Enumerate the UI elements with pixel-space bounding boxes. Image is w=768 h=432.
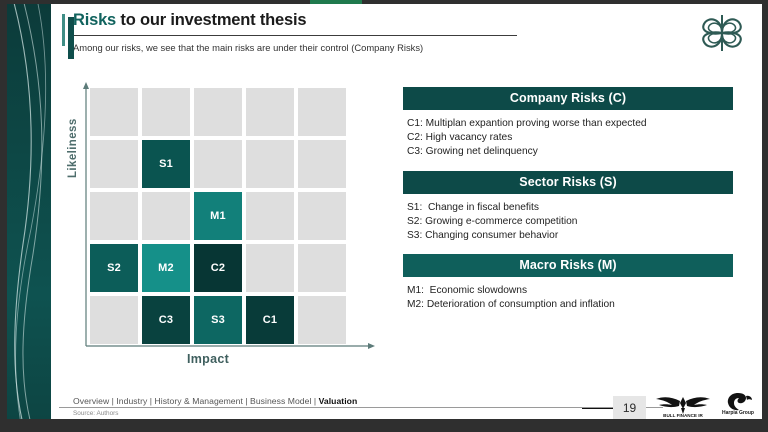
risk-item: S2: Growing e-commerce competition	[407, 215, 731, 229]
panel-macro-risks: Macro Risks (M) M1: Economic slowdowns M…	[403, 254, 733, 321]
panel-macro-risks-header: Macro Risks (M)	[403, 254, 733, 277]
panel-sector-risks: Sector Risks (S) S1: Change in fiscal be…	[403, 171, 733, 253]
risk-cell-empty	[194, 88, 242, 136]
risk-cell-m2: M2	[142, 244, 190, 292]
risk-cell-s3: S3	[194, 296, 242, 344]
risk-cell-s1: S1	[142, 140, 190, 188]
risk-cell-empty	[246, 88, 294, 136]
panel-sector-risks-header: Sector Risks (S)	[403, 171, 733, 194]
title-divider	[73, 35, 517, 36]
risk-cell-empty	[298, 192, 346, 240]
title-accent-thin-bar	[62, 14, 65, 46]
risk-cell-s2: S2	[90, 244, 138, 292]
top-progress-fill	[310, 0, 362, 4]
risk-cell-empty	[246, 244, 294, 292]
risk-item: M1: Economic slowdowns	[407, 284, 731, 298]
risk-cell-empty	[90, 88, 138, 136]
risk-cell-empty	[298, 88, 346, 136]
risk-cell-empty	[90, 192, 138, 240]
frame-right	[762, 0, 768, 432]
risk-item: C1: Multiplan expantion proving worse th…	[407, 117, 731, 131]
slide-header: Risks to our investment thesis Among our…	[73, 10, 683, 54]
risk-cell-empty	[194, 140, 242, 188]
page-title: Risks to our investment thesis	[73, 10, 683, 33]
risk-cell-c2: C2	[194, 244, 242, 292]
risk-item: S3: Changing consumer behavior	[407, 229, 731, 243]
risk-cell-m1: M1	[194, 192, 242, 240]
risk-cell-empty	[298, 296, 346, 344]
page-title-rest: to our investment thesis	[116, 11, 306, 29]
risk-cell-empty	[90, 140, 138, 188]
footer-nav-active[interactable]: Valuation	[319, 396, 358, 406]
frame-left	[0, 0, 7, 432]
risk-legend-panels: Company Risks (C) C1: Multiplan expantio…	[403, 87, 733, 322]
title-accent-thick-bar	[68, 17, 74, 59]
slide-canvas: Risks to our investment thesis Among our…	[7, 4, 762, 419]
panel-company-risks: Company Risks (C) C1: Multiplan expantio…	[403, 87, 733, 169]
risk-cell-empty	[246, 140, 294, 188]
risk-item: C2: High vacancy rates	[407, 131, 731, 145]
risk-cell-empty	[246, 192, 294, 240]
risk-cell-empty	[90, 296, 138, 344]
harpia-group-logo: Harpia Group	[716, 391, 760, 419]
harpia-logo-caption: Harpia Group	[716, 410, 760, 416]
page-subtitle: Among our risks, we see that the main ri…	[73, 42, 683, 54]
risk-cell-c1: C1	[246, 296, 294, 344]
panel-company-risks-body: C1: Multiplan expantion proving worse th…	[403, 110, 733, 169]
risk-cell-empty	[142, 88, 190, 136]
top-progress-track	[0, 0, 768, 4]
page-title-highlight: Risks	[73, 11, 116, 29]
risk-item: M2: Deterioration of consumption and inf…	[407, 298, 731, 312]
panel-company-risks-header: Company Risks (C)	[403, 87, 733, 110]
risk-cell-c3: C3	[142, 296, 190, 344]
frame-bottom	[0, 419, 768, 432]
risk-cell-empty	[298, 140, 346, 188]
footer-breadcrumb-nav[interactable]: Overview | Industry | History & Manageme…	[73, 396, 357, 406]
risk-cell-empty	[298, 244, 346, 292]
bb-butterfly-logo	[694, 10, 750, 56]
panel-sector-risks-body: S1: Change in fiscal benefits S2: Growin…	[403, 194, 733, 253]
slide-root: Risks to our investment thesis Among our…	[0, 0, 768, 432]
risk-matrix: Likeliness Impact S1M1S2M2C2C3S3C1	[65, 82, 377, 374]
risk-item: C3: Growing net delinquency	[407, 145, 731, 159]
decorative-side-strip	[7, 4, 51, 419]
eagle-wings-logo: BULL FINANCE IR	[654, 393, 712, 419]
risk-item: S1: Change in fiscal benefits	[407, 201, 731, 215]
page-number: 19	[613, 396, 646, 419]
panel-macro-risks-body: M1: Economic slowdowns M2: Deterioration…	[403, 277, 733, 321]
eagle-logo-caption: BULL FINANCE IR	[654, 413, 712, 418]
risk-cell-empty	[142, 192, 190, 240]
risk-matrix-grid: S1M1S2M2C2C3S3C1	[90, 88, 346, 344]
footer-divider	[59, 407, 663, 408]
source-note: Source: Authors	[73, 410, 118, 417]
footer-nav-plain[interactable]: Overview | Industry | History & Manageme…	[73, 396, 319, 406]
